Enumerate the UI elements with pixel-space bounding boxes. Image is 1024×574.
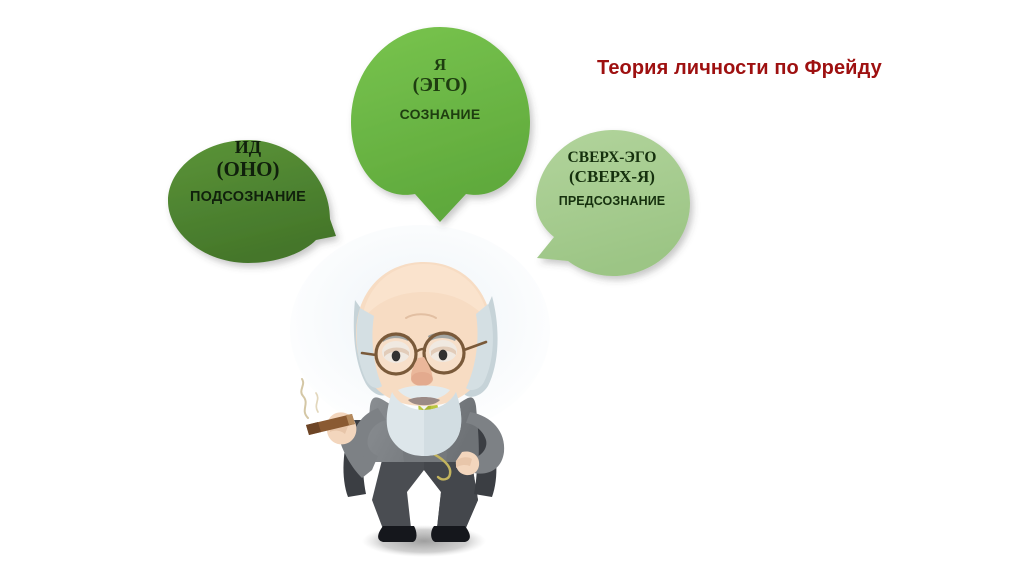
superego-bubble[interactable]	[536, 130, 690, 276]
id-bubble-shape	[168, 140, 336, 263]
slide-canvas: Теория личности по Фрейду ИД (ОНО) ПОДСО…	[0, 0, 1024, 574]
ego-bubble[interactable]	[351, 27, 530, 222]
nose-tip	[411, 372, 433, 386]
page-title: Теория личности по Фрейду	[597, 57, 882, 80]
cigar-smoke	[301, 379, 308, 418]
slide-illustration	[0, 0, 1024, 574]
lens-left	[378, 336, 414, 372]
superego-bubble-shape	[536, 130, 690, 276]
shoe-left	[378, 526, 416, 542]
shoe-right	[431, 526, 470, 542]
id-bubble[interactable]	[168, 140, 336, 263]
lens-right	[426, 335, 462, 371]
ego-bubble-shape	[351, 27, 530, 222]
cigar-smoke	[316, 393, 318, 412]
